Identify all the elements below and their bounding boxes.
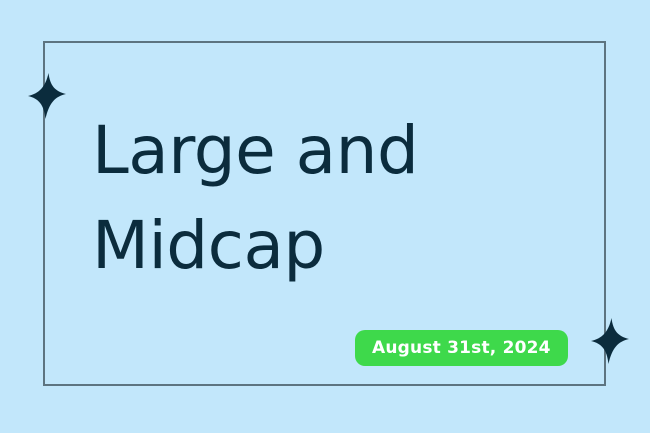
title-line-2: Midcap (92, 198, 562, 293)
date-badge-label: August 31st, 2024 (372, 338, 551, 358)
date-badge: August 31st, 2024 (355, 330, 568, 366)
title-line-1: Large and (92, 103, 562, 198)
sparkle-icon (28, 73, 66, 119)
sparkle-icon (591, 318, 629, 364)
page-title: Large and Midcap (92, 103, 562, 293)
title-card: Large and Midcap August 31st, 2024 (0, 0, 650, 433)
